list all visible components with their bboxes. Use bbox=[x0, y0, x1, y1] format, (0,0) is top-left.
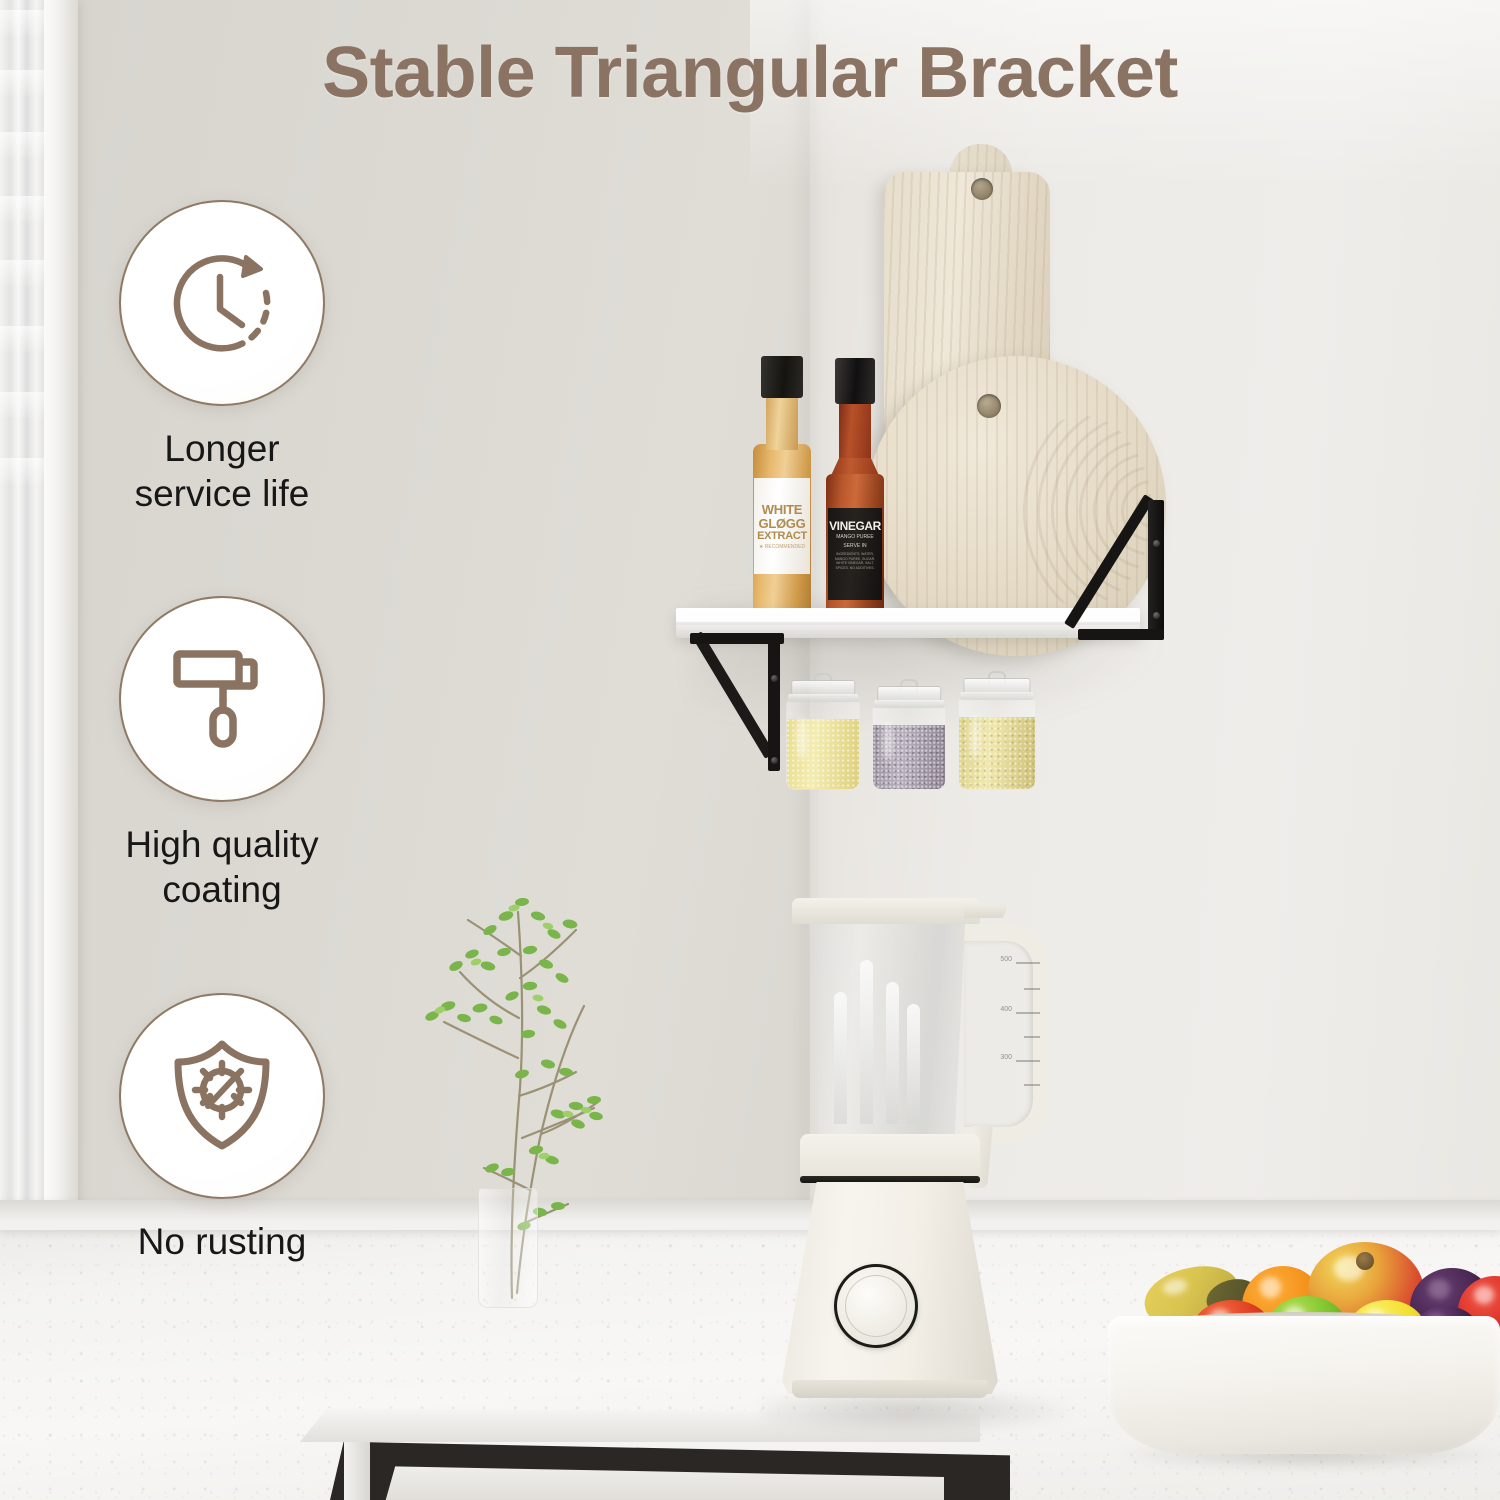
blender-measurement-scale: 500 400 300 bbox=[988, 960, 1040, 1090]
bottle-cap bbox=[761, 356, 803, 398]
poppy-seed-jar bbox=[872, 686, 946, 790]
round-board-hanging-hole bbox=[977, 394, 1001, 418]
vinegar-label-fineprint: INGREDIENTS: WATER, MANGO PUREE, SUGAR, … bbox=[828, 552, 882, 570]
feature-label-3-line1: No rusting bbox=[62, 1219, 382, 1264]
corn-grain-jar bbox=[786, 680, 860, 790]
bottle-cap bbox=[835, 358, 875, 404]
vinegar-label-line2: MANGO PUREE bbox=[836, 535, 874, 541]
blender-lid[interactable] bbox=[792, 898, 980, 924]
feature-label-1-line2: service life bbox=[62, 471, 382, 516]
blender-knob-face bbox=[845, 1275, 907, 1337]
white-ceramic-bowl bbox=[1108, 1316, 1500, 1454]
blender-jug-collar bbox=[800, 1134, 980, 1178]
triangular-bracket-left bbox=[690, 633, 788, 773]
feature-list: Longer service life High quality coating bbox=[62, 200, 382, 1264]
branch-arrangement bbox=[372, 838, 702, 1308]
shield-no-rust-icon bbox=[160, 1034, 284, 1158]
blender-black-trim-ring bbox=[800, 1176, 980, 1183]
paddle-board-hanging-hole bbox=[971, 178, 993, 200]
blender-pour-spout bbox=[964, 902, 1008, 918]
glogg-label-line4: ★ RECOMMENDED bbox=[759, 545, 805, 550]
blender-base-foot bbox=[792, 1380, 988, 1398]
feature-label-2-line1: High quality bbox=[62, 822, 382, 867]
vinegar-bottle: VINEGAR MANGO PUREE SERVE IN INGREDIENTS… bbox=[824, 358, 886, 618]
feature-label-1-line1: Longer bbox=[62, 426, 382, 471]
countertop-blender: 500 400 300 bbox=[786, 898, 1056, 1428]
mango-stem bbox=[1356, 1252, 1374, 1270]
fruit-bowl-assembly bbox=[1108, 1238, 1500, 1468]
paint-roller-icon bbox=[161, 638, 283, 760]
glogg-bottle-label: WHITE GLØGG EXTRACT ★ RECOMMENDED bbox=[754, 478, 810, 574]
feature-label-3: No rusting bbox=[62, 1219, 382, 1264]
glogg-label-line2: GLØGG bbox=[759, 517, 806, 530]
mixed-grain-jar bbox=[958, 678, 1036, 790]
glogg-label-line1: WHITE bbox=[762, 503, 802, 516]
feature-badge-3 bbox=[119, 993, 325, 1199]
wall-shelf-assembly: WHITE GLØGG EXTRACT ★ RECOMMENDED VINEGA… bbox=[668, 170, 1188, 790]
glass-vase bbox=[478, 1188, 538, 1308]
feature-no-rusting: No rusting bbox=[62, 993, 382, 1264]
feature-badge-2 bbox=[119, 596, 325, 802]
white-glogg-extract-bottle: WHITE GLØGG EXTRACT ★ RECOMMENDED bbox=[750, 356, 814, 618]
triangular-bracket-right bbox=[1068, 500, 1164, 640]
glogg-label-line3: EXTRACT bbox=[757, 531, 807, 542]
vinegar-label-line1: VINEGAR bbox=[829, 520, 881, 532]
cabinet-stile bbox=[344, 1440, 370, 1500]
page-title: Stable Triangular Bracket bbox=[0, 32, 1500, 114]
blender-control-knob[interactable] bbox=[834, 1264, 918, 1348]
clock-refresh-icon bbox=[158, 239, 286, 367]
feature-label-2-line2: coating bbox=[62, 867, 382, 912]
blind-slats bbox=[0, 0, 46, 1268]
feature-label-1: Longer service life bbox=[62, 426, 382, 516]
feature-label-2: High quality coating bbox=[62, 822, 382, 912]
feature-badge-1 bbox=[119, 200, 325, 406]
feature-longer-service-life: Longer service life bbox=[62, 200, 382, 516]
blender-blade-assembly bbox=[834, 956, 920, 1124]
vinegar-label-line3: SERVE IN bbox=[843, 544, 866, 550]
vinegar-bottle-label: VINEGAR MANGO PUREE SERVE IN INGREDIENTS… bbox=[828, 508, 882, 600]
feature-high-quality-coating: High quality coating bbox=[62, 596, 382, 912]
